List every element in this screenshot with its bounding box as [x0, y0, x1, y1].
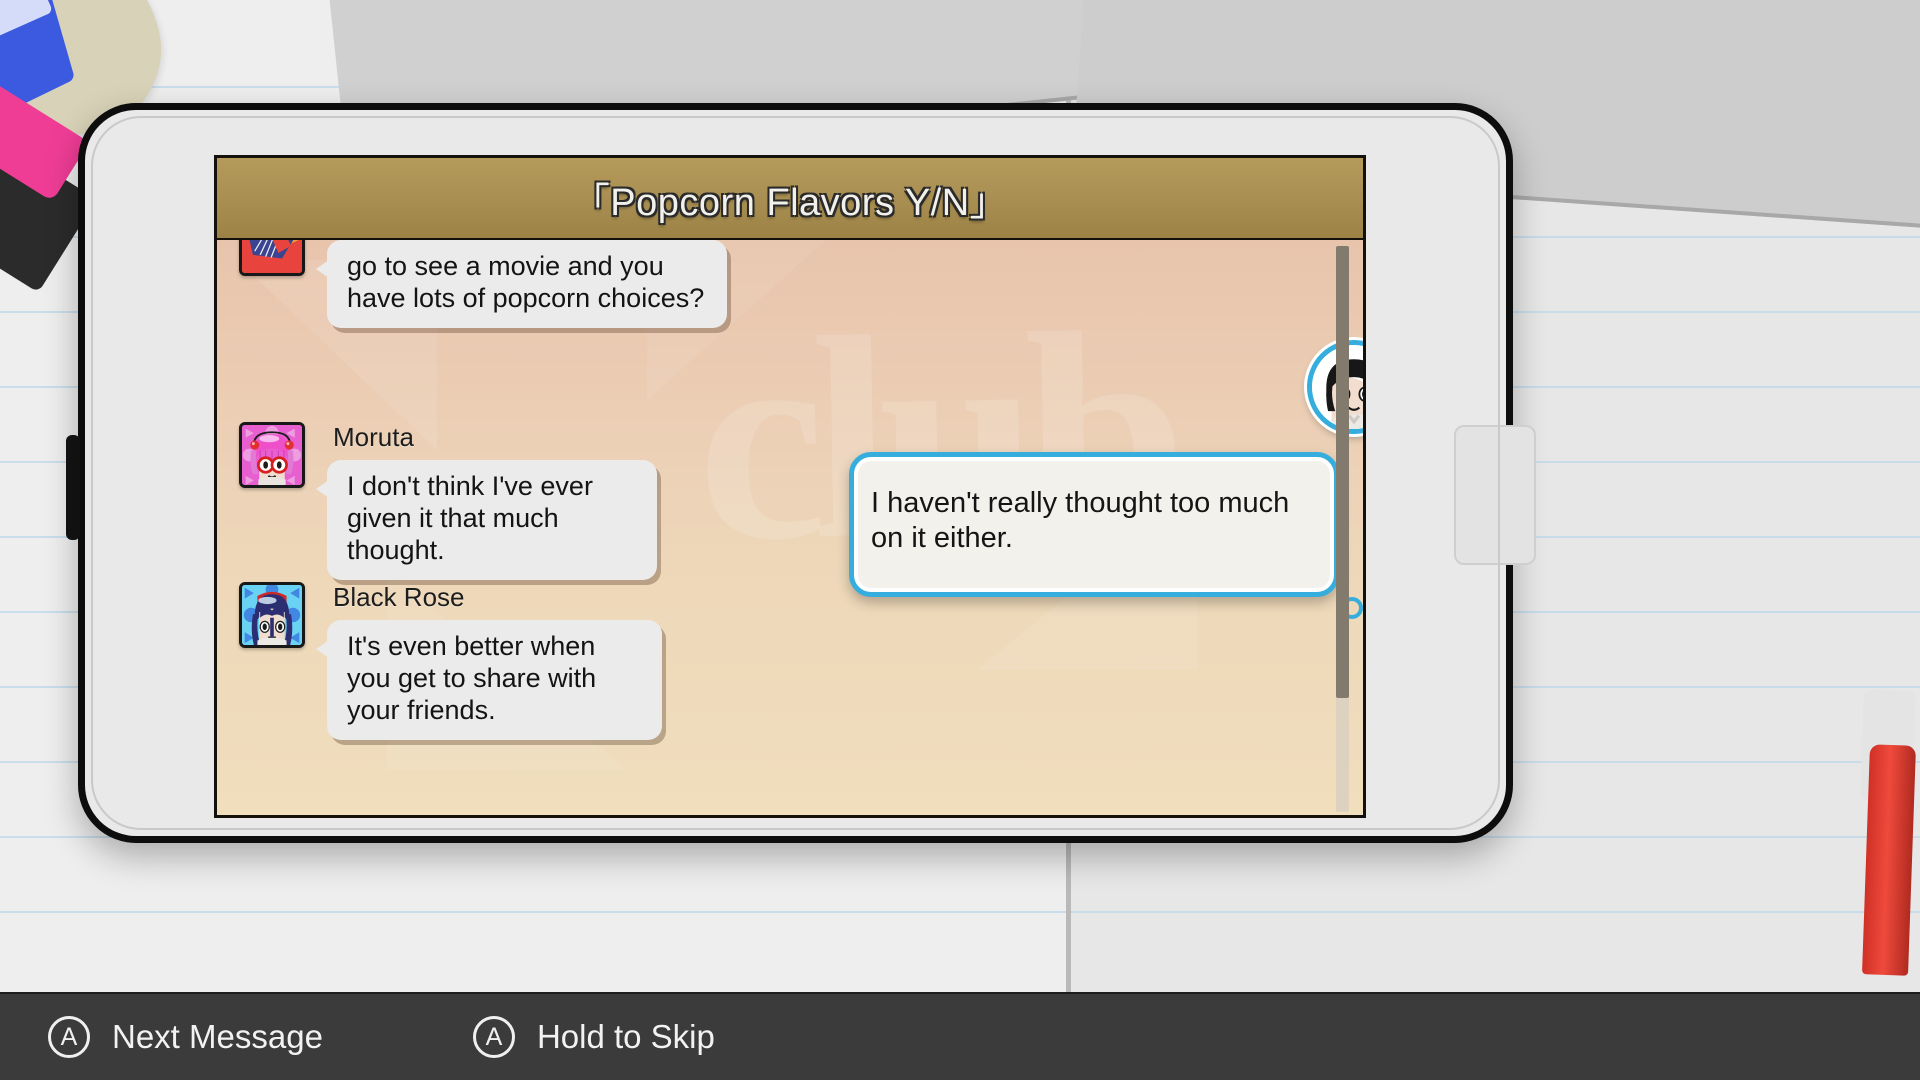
list-item[interactable]: go to see a movie and you have lots of p…	[239, 240, 727, 328]
message-text: I don't think I've ever given it that mu…	[347, 471, 593, 565]
phone-right-panel	[1454, 425, 1536, 565]
list-item[interactable]: Moruta I don't think I've ever given it …	[239, 422, 657, 580]
pen-red	[1862, 744, 1916, 975]
message-content: Black Rose It's even better when you get…	[327, 582, 662, 740]
hint-label: Hold to Skip	[537, 1018, 715, 1056]
sender-name: Black Rose	[333, 582, 662, 613]
message-content: Moruta I don't think I've ever given it …	[327, 422, 657, 580]
a-button-icon: A	[473, 1016, 515, 1058]
message-text: go to see a movie and you have lots of p…	[347, 251, 704, 313]
a-button-icon: A	[48, 1016, 90, 1058]
avatar[interactable]	[239, 240, 305, 276]
message-bubble: I don't think I've ever given it that mu…	[327, 460, 657, 580]
scrollbar-thumb[interactable]	[1336, 246, 1349, 698]
message-text: It's even better when you get to share w…	[347, 631, 596, 725]
chat-title-bar: 「Popcorn Flavors Y/N」	[217, 158, 1363, 240]
sender-name: Moruta	[333, 422, 657, 453]
hint-hold-to-skip[interactable]: A Hold to Skip	[473, 1016, 715, 1058]
avatar[interactable]	[239, 582, 305, 648]
list-item[interactable]: Black Rose It's even better when you get…	[239, 582, 662, 740]
avatar[interactable]	[239, 422, 305, 488]
player-message-bubble[interactable]: I haven't really thought too much on it …	[849, 452, 1339, 597]
chat-message-list[interactable]: club	[217, 240, 1363, 818]
message-text: I haven't really thought too much on it …	[871, 486, 1317, 556]
avatar[interactable]	[1307, 340, 1363, 434]
hint-label: Next Message	[112, 1018, 323, 1056]
scrollbar-track[interactable]	[1336, 246, 1349, 812]
phone-side-button[interactable]	[66, 435, 80, 540]
phone-screen: 「Popcorn Flavors Y/N」 club	[214, 155, 1366, 818]
message-bubble: go to see a movie and you have lots of p…	[327, 240, 727, 328]
page-title: 「Popcorn Flavors Y/N」	[572, 171, 1008, 226]
message-bubble: It's even better when you get to share w…	[327, 620, 662, 740]
message-content: go to see a movie and you have lots of p…	[327, 240, 727, 328]
button-hint-bar: A Next Message A Hold to Skip	[0, 992, 1920, 1080]
hint-next-message[interactable]: A Next Message	[48, 1016, 323, 1058]
phone-device: 「Popcorn Flavors Y/N」 club	[78, 103, 1513, 843]
